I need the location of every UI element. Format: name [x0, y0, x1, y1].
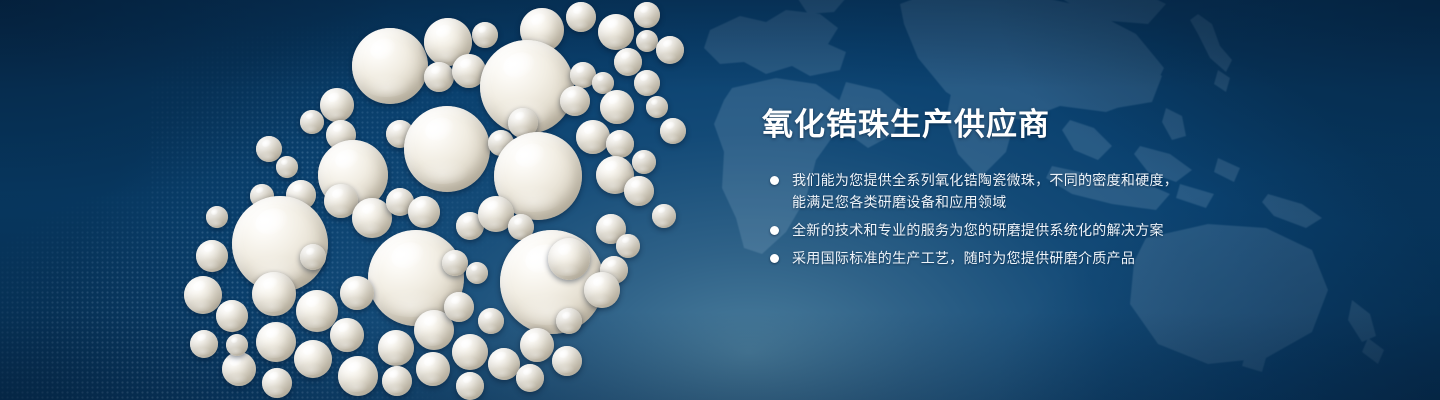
bead	[276, 156, 298, 178]
bead	[340, 276, 374, 310]
banner-copy: 氧化锆珠生产供应商 我们能为您提供全系列氧化锆陶瓷微珠，不同的密度和硬度， 能满…	[762, 106, 1232, 269]
bead	[338, 356, 378, 396]
bead	[652, 204, 676, 228]
bead	[516, 364, 544, 392]
bead	[566, 2, 596, 32]
bead	[600, 90, 634, 124]
bead	[424, 62, 454, 92]
bead	[560, 86, 590, 116]
page-title: 氧化锆珠生产供应商	[762, 106, 1232, 143]
bead	[320, 88, 354, 122]
list-item: 全新的技术和专业的服务为您的研磨提供系统化的解决方案	[762, 219, 1232, 241]
feature-list: 我们能为您提供全系列氧化锆陶瓷微珠，不同的密度和硬度， 能满足您各类研磨设备和应…	[762, 169, 1232, 269]
bead	[646, 96, 668, 118]
bead	[352, 28, 428, 104]
bullet-dot-icon	[770, 176, 779, 185]
bullet-dot-icon	[770, 254, 779, 263]
bead	[330, 318, 364, 352]
bead	[442, 250, 468, 276]
bead	[632, 150, 656, 174]
list-item-line: 采用国际标准的生产工艺，随时为您提供研磨介质产品	[792, 247, 1232, 269]
list-item: 我们能为您提供全系列氧化锆陶瓷微珠，不同的密度和硬度， 能满足您各类研磨设备和应…	[762, 169, 1232, 213]
list-item-line: 能满足您各类研磨设备和应用领域	[792, 191, 1232, 213]
bead	[556, 308, 582, 334]
bead	[382, 366, 412, 396]
hero-banner: 氧化锆珠生产供应商 我们能为您提供全系列氧化锆陶瓷微珠，不同的密度和硬度， 能满…	[0, 0, 1440, 400]
bead	[190, 330, 218, 358]
bead	[222, 352, 256, 386]
zirconia-bead-cluster	[0, 0, 720, 400]
bead	[256, 136, 282, 162]
bead	[636, 30, 658, 52]
bead	[262, 368, 292, 398]
bead	[660, 118, 686, 144]
bead	[576, 120, 610, 154]
bead	[206, 206, 228, 228]
bead	[548, 238, 590, 280]
bead	[216, 300, 248, 332]
bullet-dot-icon	[770, 226, 779, 235]
bead	[252, 272, 296, 316]
bead	[444, 292, 474, 322]
bead	[598, 14, 634, 50]
bead	[184, 276, 222, 314]
list-item: 采用国际标准的生产工艺，随时为您提供研磨介质产品	[762, 247, 1232, 269]
bead	[196, 240, 228, 272]
bead	[606, 130, 634, 158]
bead	[226, 334, 248, 356]
bead	[452, 334, 488, 370]
bead	[408, 196, 440, 228]
bead	[656, 36, 684, 64]
bead	[624, 176, 654, 206]
bead	[294, 340, 332, 378]
bead	[478, 308, 504, 334]
bead	[614, 48, 642, 76]
bead	[256, 322, 296, 362]
bead	[472, 22, 498, 48]
bead	[616, 234, 640, 258]
bead	[552, 346, 582, 376]
bead	[456, 372, 484, 400]
bead	[520, 328, 554, 362]
bead	[634, 70, 660, 96]
bead	[584, 272, 620, 308]
bead	[378, 330, 414, 366]
bead	[634, 2, 660, 28]
bead	[300, 244, 326, 270]
bead	[416, 352, 450, 386]
bead	[300, 110, 324, 134]
bead	[466, 262, 488, 284]
bead	[404, 106, 490, 192]
list-item-line: 我们能为您提供全系列氧化锆陶瓷微珠，不同的密度和硬度，	[792, 169, 1232, 191]
list-item-line: 全新的技术和专业的服务为您的研磨提供系统化的解决方案	[792, 219, 1232, 241]
